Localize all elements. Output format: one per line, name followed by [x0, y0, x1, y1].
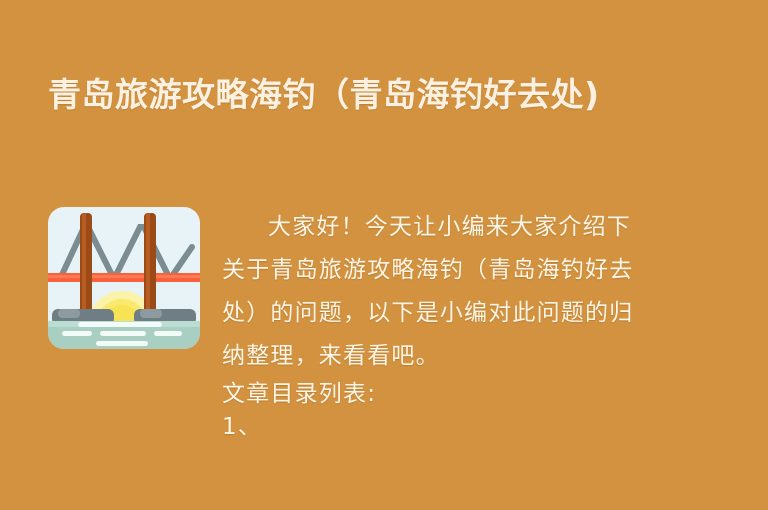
bridge-sunset-icon [48, 207, 200, 349]
article-card: 青岛旅游攻略海钓（青岛海钓好去处) [0, 0, 768, 510]
toc-item[interactable]: 1、 [222, 411, 646, 444]
toc-heading: 文章目录列表: [222, 378, 646, 411]
bridge-sunset-illustration [48, 207, 200, 349]
page-title: 青岛旅游攻略海钓（青岛海钓好去处) [48, 70, 648, 120]
article-body: 大家好！今天让小编来大家介绍下关于青岛旅游攻略海钓（青岛海钓好去处）的问题，以下… [222, 206, 646, 444]
intro-paragraph: 大家好！今天让小编来大家介绍下关于青岛旅游攻略海钓（青岛海钓好去处）的问题，以下… [222, 206, 646, 378]
